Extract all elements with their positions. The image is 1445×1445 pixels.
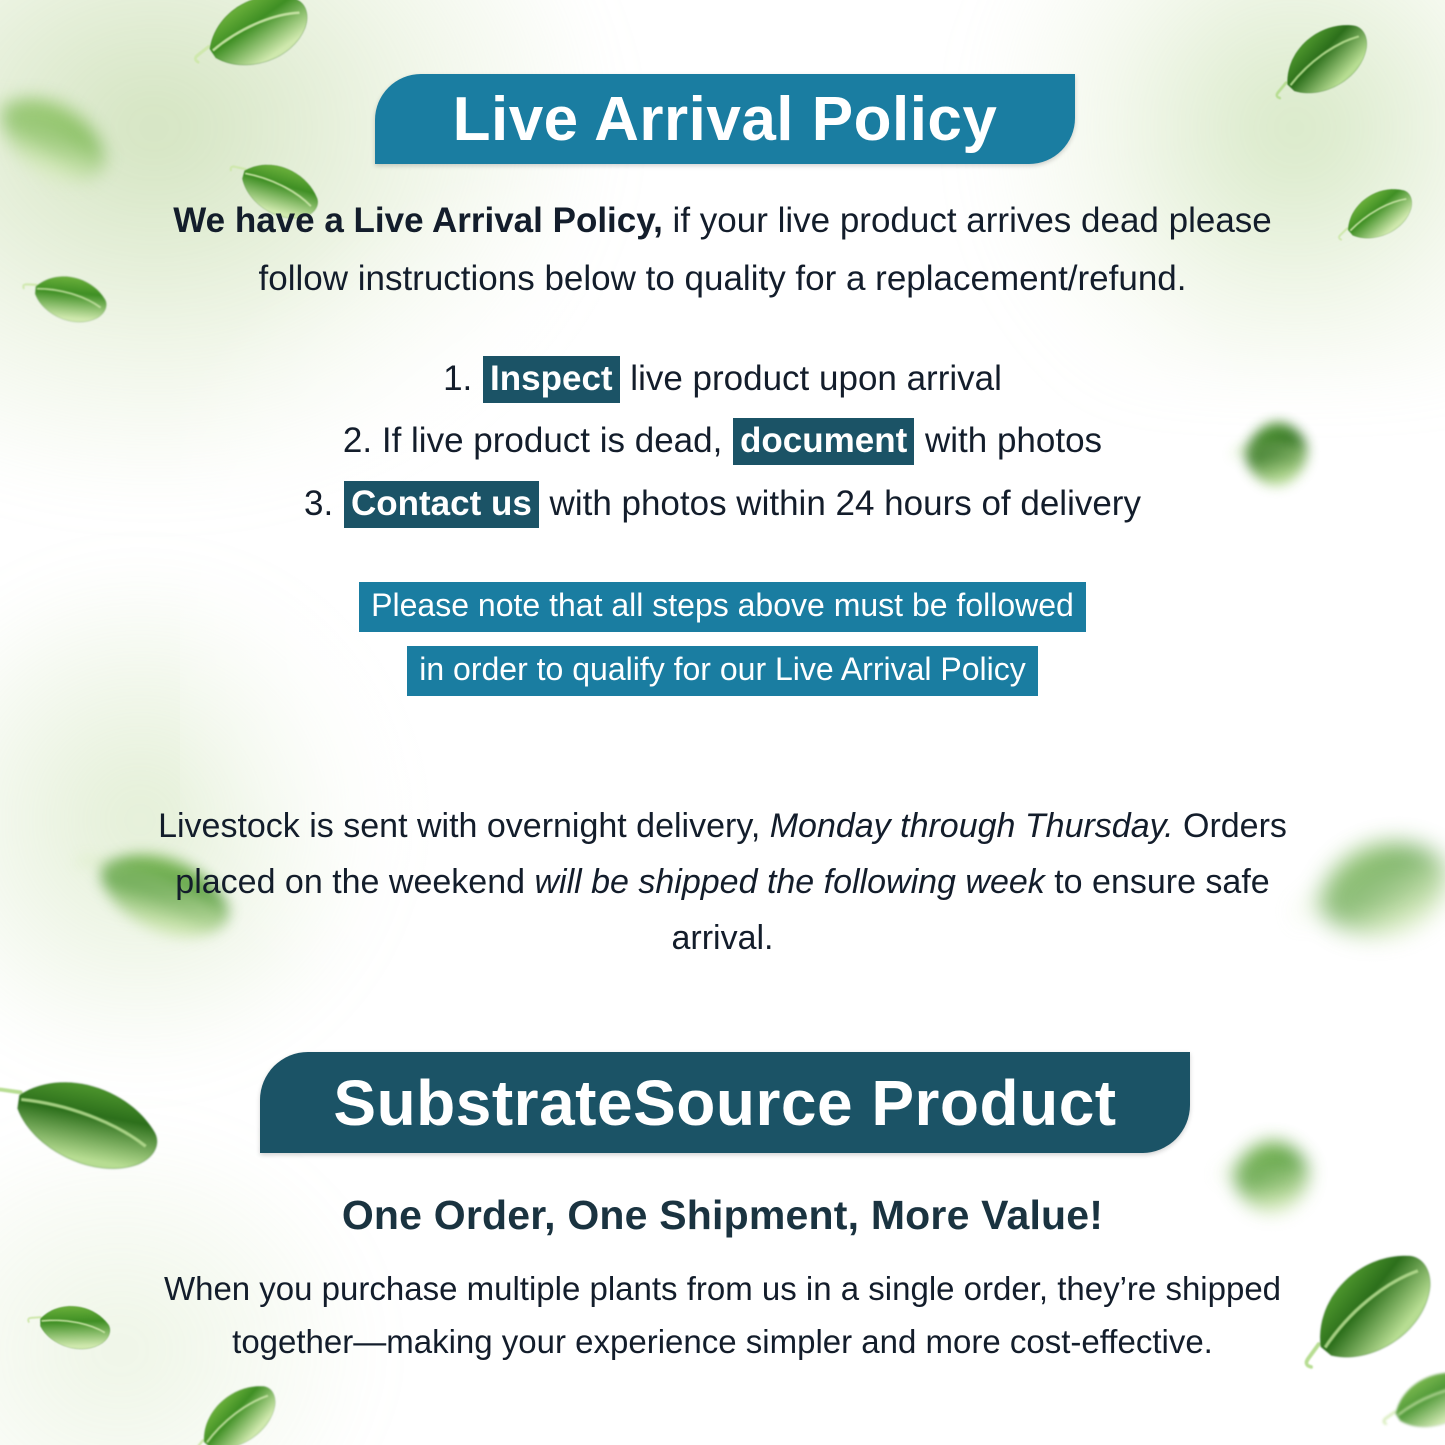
policy-step-3-highlight: Contact us bbox=[344, 481, 539, 528]
policy-note-block: Please note that all steps above must be… bbox=[140, 582, 1305, 710]
value-subheading-label: One Order, One Shipment, More Value! bbox=[342, 1192, 1103, 1238]
shipping-schedule-paragraph: Livestock is sent with overnight deliver… bbox=[140, 798, 1305, 966]
policy-step-3-before bbox=[333, 484, 343, 523]
policy-step-1: 1. Inspect live product upon arrival bbox=[140, 348, 1305, 410]
policy-step-2-number: 2. bbox=[343, 421, 372, 460]
policy-note-line-1: Please note that all steps above must be… bbox=[359, 582, 1086, 632]
policy-step-1-after: live product upon arrival bbox=[621, 359, 1002, 398]
shipping-italic-days: Monday through Thursday. bbox=[770, 807, 1174, 845]
shipping-italic-following-week: will be shipped the following week bbox=[534, 863, 1044, 901]
combined-shipping-text: When you purchase multiple plants from u… bbox=[164, 1270, 1281, 1360]
combined-shipping-paragraph: When you purchase multiple plants from u… bbox=[120, 1262, 1325, 1369]
policy-step-1-highlight: Inspect bbox=[483, 356, 620, 403]
live-arrival-policy-banner: Live Arrival Policy bbox=[375, 74, 1075, 164]
poster-content: Live Arrival Policy We have a Live Arriv… bbox=[0, 0, 1445, 1445]
intro-paragraph: We have a Live Arrival Policy, if your l… bbox=[140, 192, 1305, 308]
policy-step-2-after: with photos bbox=[915, 421, 1102, 460]
policy-step-3-number: 3. bbox=[304, 484, 333, 523]
intro-bold-text: We have a Live Arrival Policy, bbox=[173, 201, 663, 240]
policy-step-3-after: with photos within 24 hours of delivery bbox=[540, 484, 1141, 523]
live-arrival-policy-banner-label: Live Arrival Policy bbox=[453, 84, 998, 155]
policy-step-2: 2. If live product is dead, document wit… bbox=[140, 410, 1305, 472]
value-subheading: One Order, One Shipment, More Value! bbox=[140, 1192, 1305, 1239]
poster-root: Live Arrival Policy We have a Live Arriv… bbox=[0, 0, 1445, 1445]
policy-step-2-highlight: document bbox=[733, 418, 914, 465]
policy-step-3: 3. Contact us with photos within 24 hour… bbox=[140, 473, 1305, 535]
policy-step-1-number: 1. bbox=[443, 359, 472, 398]
policy-note-line-2: in order to qualify for our Live Arrival… bbox=[407, 646, 1037, 696]
substratesource-product-banner-label: SubstrateSource Product bbox=[333, 1066, 1116, 1140]
policy-steps-list: 1. Inspect live product upon arrival 2. … bbox=[140, 348, 1305, 535]
policy-step-2-before: If live product is dead, bbox=[372, 421, 732, 460]
shipping-text-part-1: Livestock is sent with overnight deliver… bbox=[158, 807, 770, 845]
substratesource-product-banner: SubstrateSource Product bbox=[260, 1052, 1190, 1153]
